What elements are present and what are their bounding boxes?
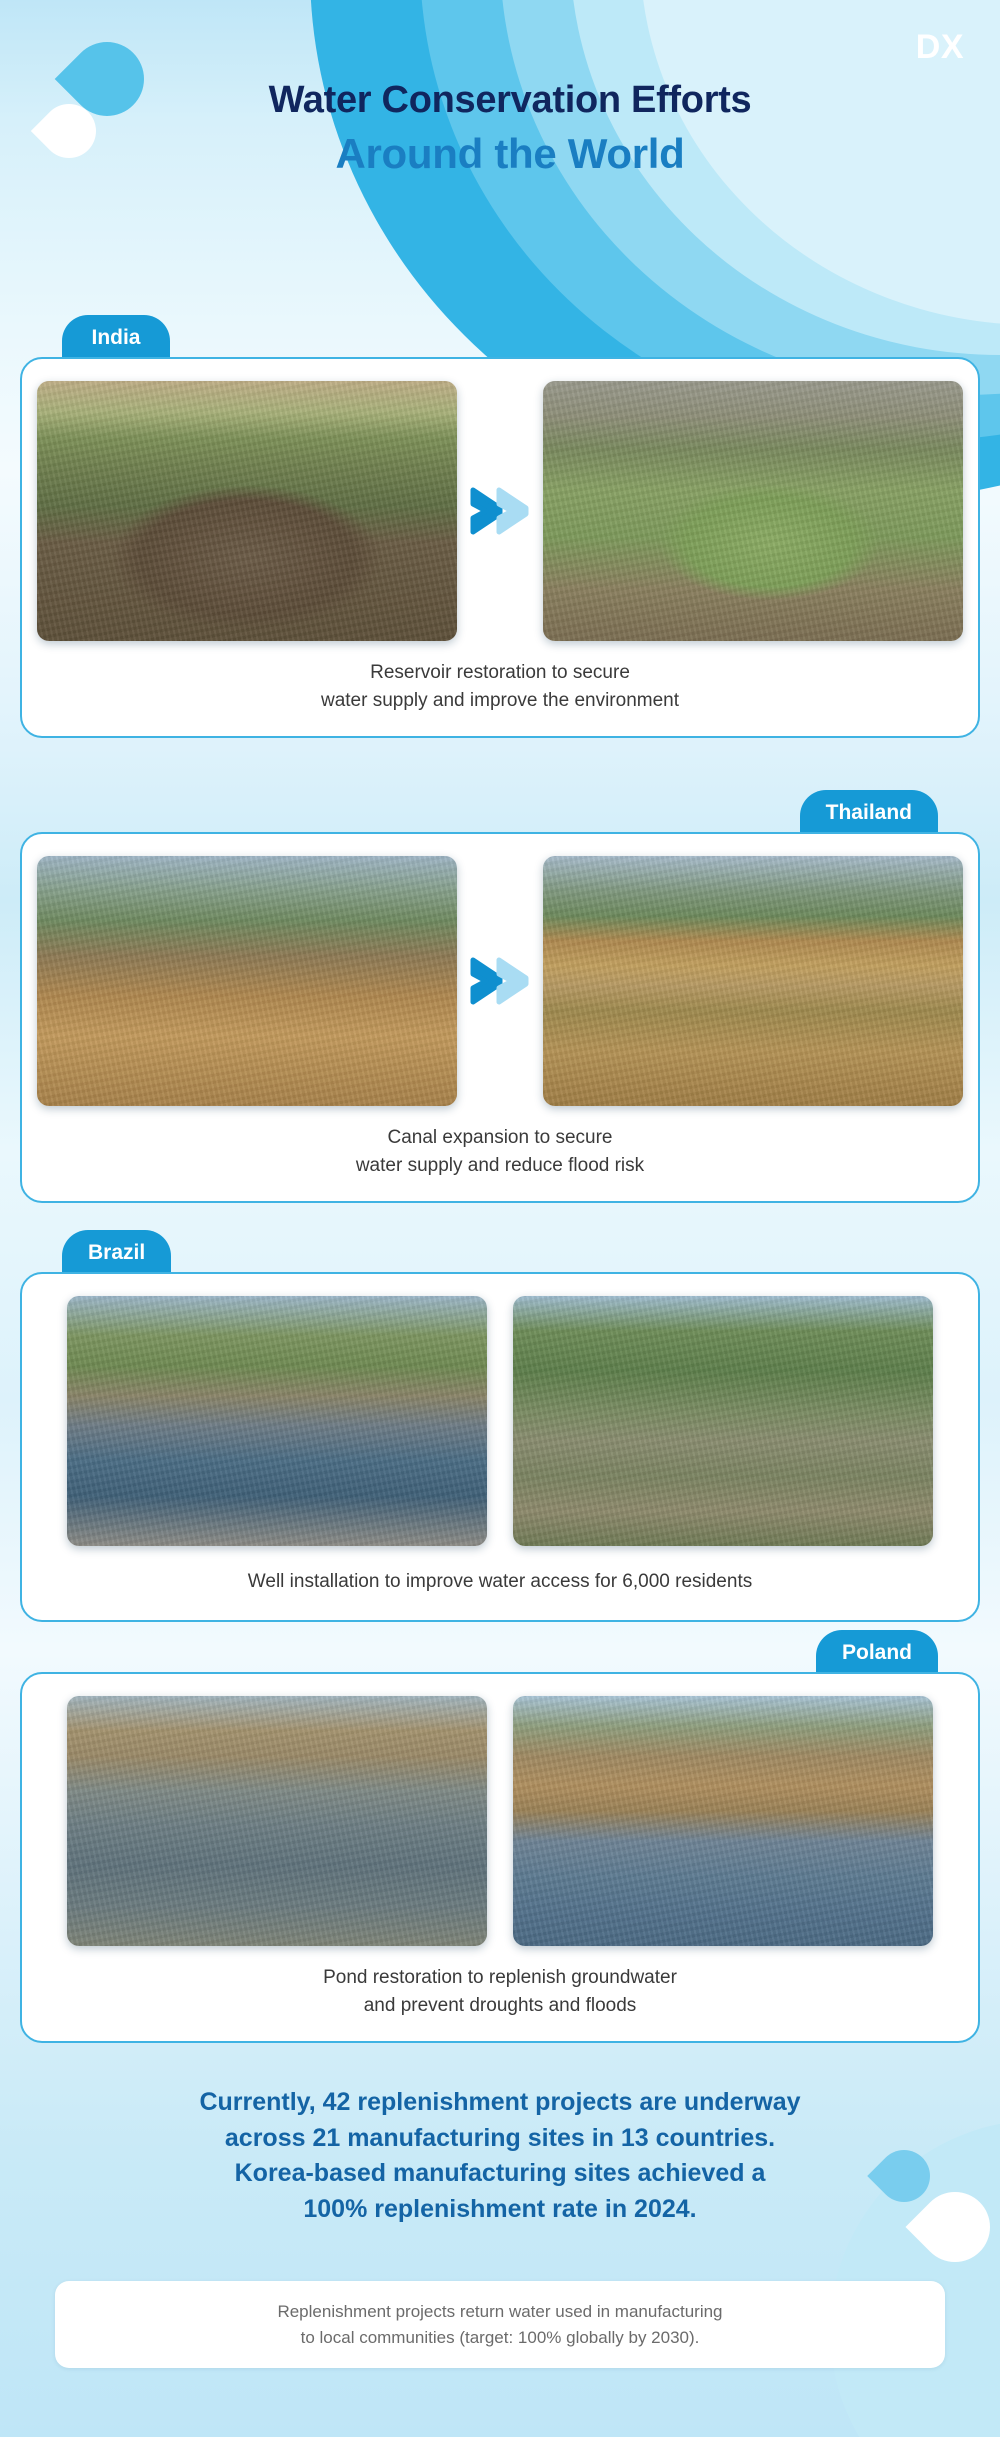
photo-texture (67, 1296, 487, 1546)
footnote-line-2: to local communities (target: 100% globa… (85, 2325, 915, 2351)
summary-line-3: Korea-based manufacturing sites achieved… (40, 2156, 960, 2192)
country-card-brazil: Well installation to improve water acces… (20, 1272, 980, 1622)
india-before-photo (37, 381, 457, 641)
footnote-line-1: Replenishment projects return water used… (85, 2299, 915, 2325)
photo-image (37, 856, 457, 1106)
caption-line-1: Well installation to improve water acces… (48, 1568, 952, 1596)
photo-row (22, 1674, 978, 1952)
photo-texture (543, 856, 963, 1106)
footnote-box: Replenishment projects return water used… (55, 2281, 945, 2368)
poland-restored-photo (513, 1696, 933, 1946)
card-caption: Canal expansion to securewater supply an… (22, 1112, 978, 1201)
photo-image (543, 381, 963, 641)
card-caption: Pond restoration to replenish groundwate… (22, 1952, 978, 2041)
poland-dredging-photo (67, 1696, 487, 1946)
india-after-photo (543, 381, 963, 641)
photo-texture (67, 1696, 487, 1946)
dx-logo: DX (916, 28, 964, 67)
summary-statement: Currently, 42 replenishment projects are… (40, 2085, 960, 2227)
country-tab-poland[interactable]: Poland (816, 1630, 938, 1676)
photo-row (22, 359, 978, 647)
double-chevron-right-icon (457, 954, 543, 1008)
photo-texture (37, 381, 457, 641)
caption-line-2: water supply and reduce flood risk (48, 1152, 952, 1180)
page-title-line1: Water Conservation Efforts (20, 80, 1000, 122)
caption-line-1: Pond restoration to replenish groundwate… (48, 1964, 952, 1992)
country-tab-india[interactable]: India (62, 315, 170, 361)
photo-row (22, 834, 978, 1112)
photo-texture (37, 856, 457, 1106)
country-card-india: Reservoir restoration to securewater sup… (20, 357, 980, 738)
photo-image (513, 1696, 933, 1946)
country-tab-thailand[interactable]: Thailand (800, 790, 938, 836)
country-tab-brazil[interactable]: Brazil (62, 1230, 171, 1276)
photo-texture (513, 1696, 933, 1946)
thailand-after-photo (543, 856, 963, 1106)
photo-texture (513, 1296, 933, 1546)
thailand-before-photo (37, 856, 457, 1106)
summary-line-4: 100% replenishment rate in 2024. (40, 2192, 960, 2228)
page-header: DX Water Conservation Efforts Around the… (0, 0, 1000, 290)
summary-line-2: across 21 manufacturing sites in 13 coun… (40, 2121, 960, 2157)
brazil-well-photo (67, 1296, 487, 1546)
country-card-thailand: Canal expansion to securewater supply an… (20, 832, 980, 1203)
page-title-line2: Around the World (20, 128, 1000, 181)
card-caption: Well installation to improve water acces… (22, 1552, 978, 1620)
caption-line-1: Reservoir restoration to secure (48, 659, 952, 687)
double-chevron-right-icon (457, 484, 543, 538)
photo-texture (543, 381, 963, 641)
infographic-page: DX Water Conservation Efforts Around the… (0, 0, 1000, 2437)
caption-line-1: Canal expansion to secure (48, 1124, 952, 1152)
photo-image (513, 1296, 933, 1546)
page-title: Water Conservation Efforts Around the Wo… (0, 80, 1000, 180)
caption-line-2: and prevent droughts and floods (48, 1992, 952, 2020)
caption-line-2: water supply and improve the environment (48, 687, 952, 715)
photo-image (67, 1696, 487, 1946)
photo-image (67, 1296, 487, 1546)
card-caption: Reservoir restoration to securewater sup… (22, 647, 978, 736)
summary-line-1: Currently, 42 replenishment projects are… (40, 2085, 960, 2121)
photo-image (37, 381, 457, 641)
country-card-poland: Pond restoration to replenish groundwate… (20, 1672, 980, 2043)
brazil-community-photo (513, 1296, 933, 1546)
photo-image (543, 856, 963, 1106)
photo-row (22, 1274, 978, 1552)
